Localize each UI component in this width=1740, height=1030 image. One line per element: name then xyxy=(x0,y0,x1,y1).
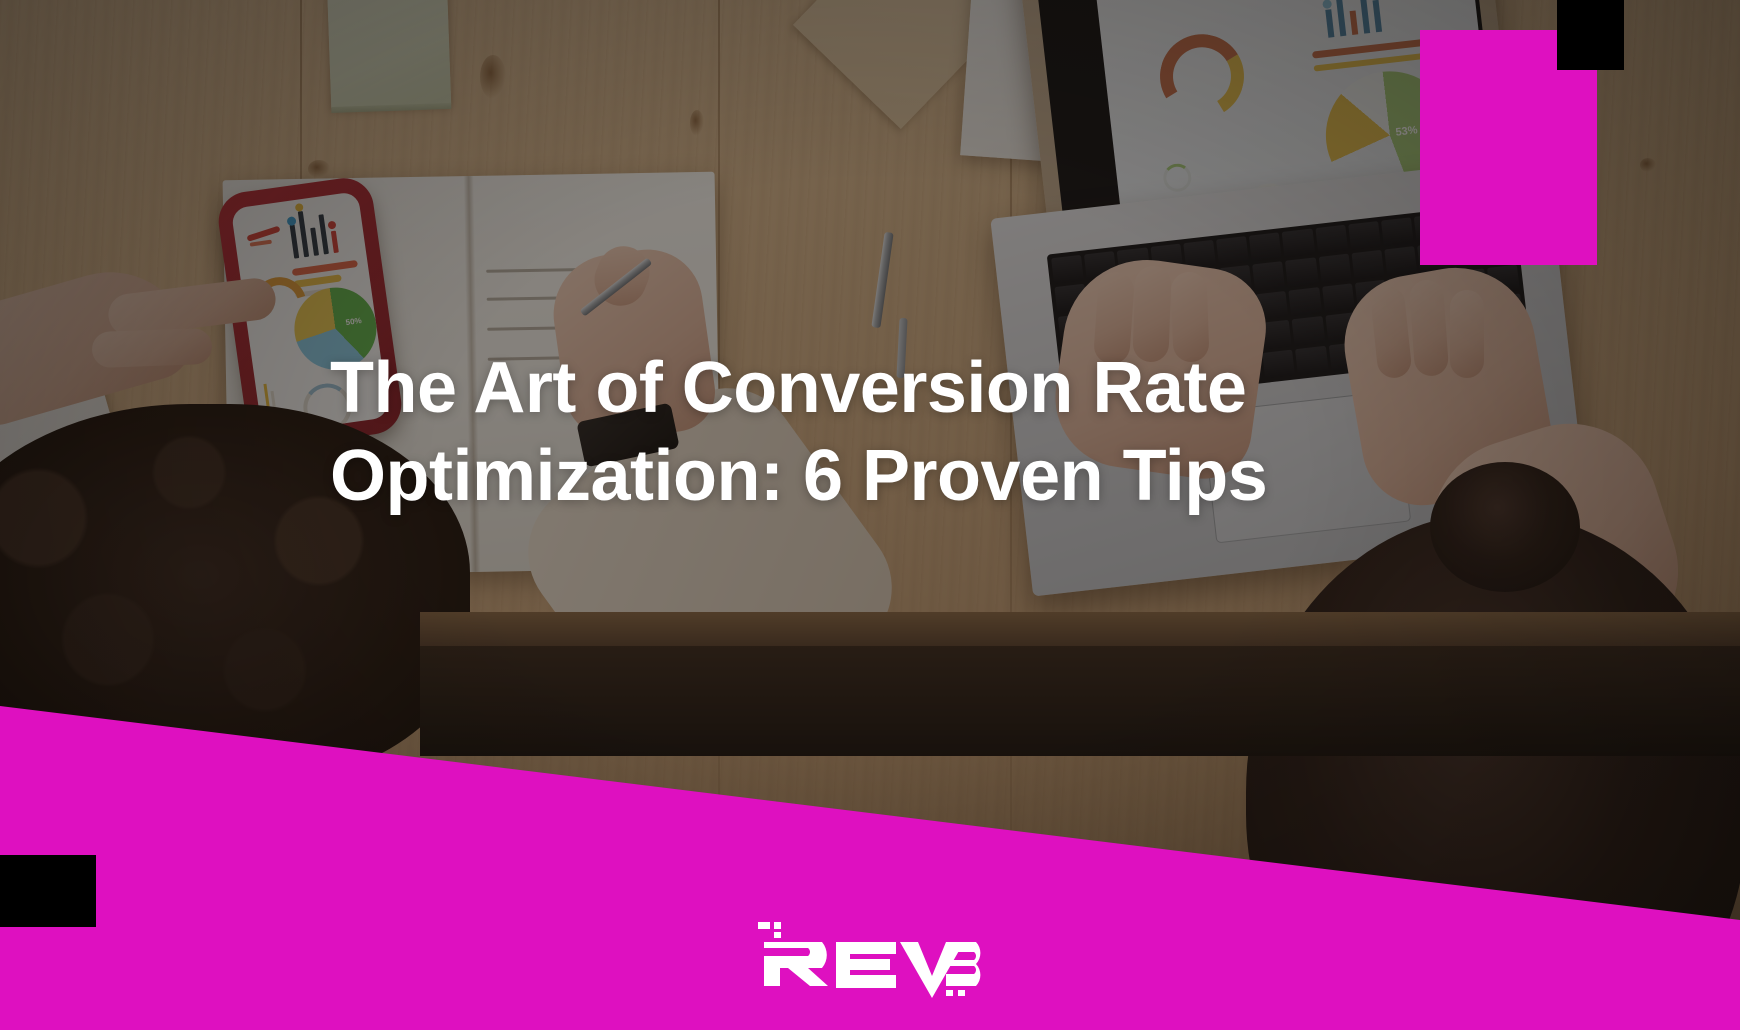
social-cover-canvas: 50% xyxy=(0,0,1740,1030)
black-square-bottom-left xyxy=(0,855,96,927)
page-title: The Art of Conversion Rate Optimization:… xyxy=(330,344,1290,520)
reverb-logo[interactable] xyxy=(750,912,990,998)
page-title-line-1: The Art of Conversion Rate xyxy=(330,344,1290,432)
black-square-top-right xyxy=(1557,0,1624,70)
page-title-line-2: Optimization: 6 Proven Tips xyxy=(330,432,1290,520)
